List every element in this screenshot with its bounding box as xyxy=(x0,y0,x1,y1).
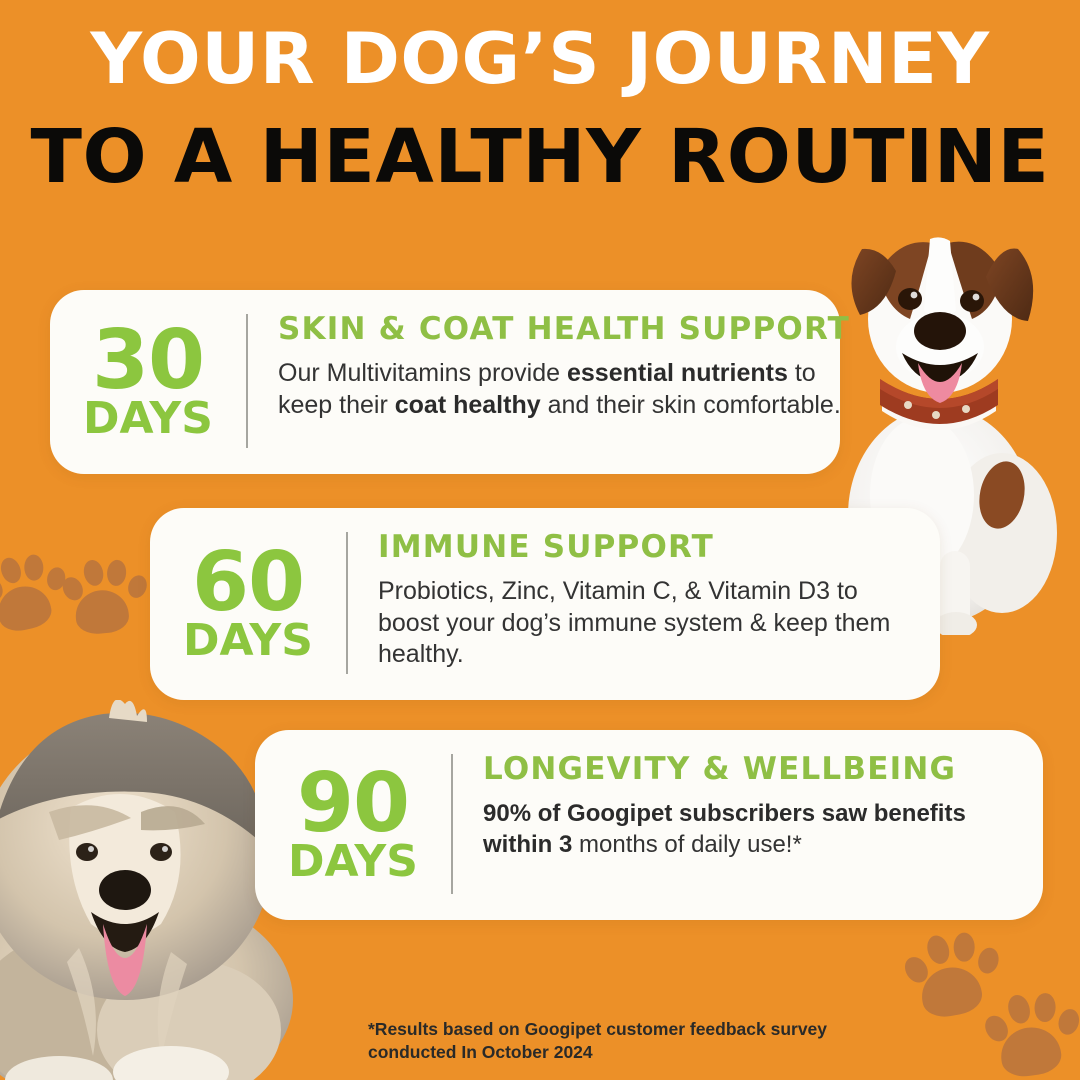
card-30-title: SKIN & COAT HEALTH SUPPORT xyxy=(278,314,850,345)
footnote-disclaimer: *Results based on Googipet customer feed… xyxy=(368,1018,928,1064)
infographic-poster: YOUR DOG’S JOURNEY TO A HEALTHY ROUTINE xyxy=(0,0,1080,1080)
benefit-card-60-days: 60 DAYS IMMUNE SUPPORT Probiotics, Zinc,… xyxy=(150,508,940,700)
card-30-days-number: 30 xyxy=(92,327,204,394)
card-30-days-block: 30 DAYS xyxy=(50,290,246,474)
card-90-days-block: 90 DAYS xyxy=(255,730,451,920)
paw-print-bottom-right-lower xyxy=(979,979,1080,1080)
card-90-days-number: 90 xyxy=(297,770,409,837)
paw-print-left-upper xyxy=(0,540,76,642)
card-60-body: IMMUNE SUPPORT Probiotics, Zinc, Vitamin… xyxy=(348,508,940,700)
card-60-days-word: DAYS xyxy=(183,619,313,663)
card-60-days-block: 60 DAYS xyxy=(150,508,346,700)
benefit-card-90-days: 90 DAYS LONGEVITY & WELLBEING 90% of Goo… xyxy=(255,730,1043,920)
card-90-text: 90% of Googipet subscribers saw benefits… xyxy=(483,798,1017,860)
paw-print-bottom-right-upper xyxy=(897,917,1008,1028)
card-30-days-word: DAYS xyxy=(83,397,213,441)
card-30-body: SKIN & COAT HEALTH SUPPORT Our Multivita… xyxy=(248,290,876,474)
card-60-title: IMMUNE SUPPORT xyxy=(378,532,914,563)
benefit-card-30-days: 30 DAYS SKIN & COAT HEALTH SUPPORT Our M… xyxy=(50,290,840,474)
footnote-line-1: *Results based on Googipet customer feed… xyxy=(368,1018,928,1041)
footnote-line-2: conducted In October 2024 xyxy=(368,1041,928,1064)
page-title-line-2: TO A HEALTHY ROUTINE xyxy=(0,122,1080,192)
card-90-days-word: DAYS xyxy=(288,840,418,884)
card-60-days-number: 60 xyxy=(192,549,304,616)
page-title-line-1: YOUR DOG’S JOURNEY xyxy=(0,26,1080,93)
card-90-body: LONGEVITY & WELLBEING 90% of Googipet su… xyxy=(453,730,1043,920)
card-60-text: Probiotics, Zinc, Vitamin C, & Vitamin D… xyxy=(378,576,914,671)
card-30-text: Our Multivitamins provide essential nutr… xyxy=(278,358,850,421)
card-90-title: LONGEVITY & WELLBEING xyxy=(483,754,1017,785)
paw-print-left-lower xyxy=(58,548,151,641)
